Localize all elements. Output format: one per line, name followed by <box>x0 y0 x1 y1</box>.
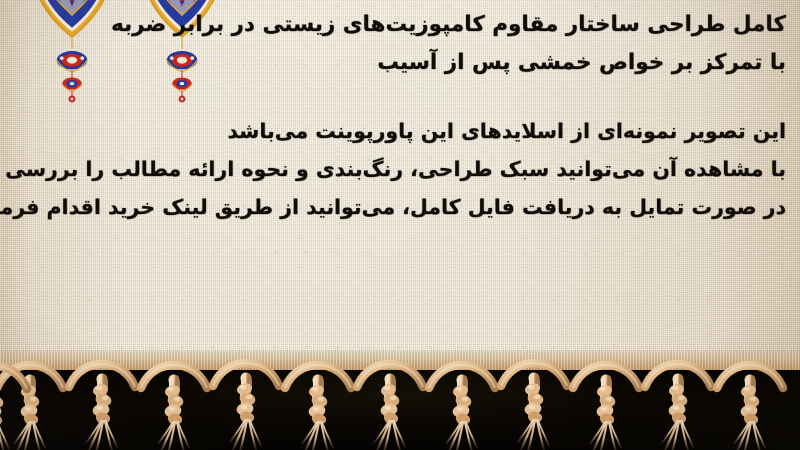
list-item <box>141 365 207 450</box>
body-line-3: در صورت تمایل به دریافت فایل کامل، می‌تو… <box>0 188 786 226</box>
carpet-bottom-edge <box>0 350 800 450</box>
list-item <box>69 364 135 450</box>
tassel-row <box>0 363 783 450</box>
list-item <box>501 363 567 450</box>
list-item <box>285 365 351 450</box>
list-item <box>0 365 63 450</box>
body-line-2: با مشاهده آن می‌توانید سبک طراحی، رنگ‌بن… <box>0 150 786 188</box>
body-line-1: این تصویر نمونه‌ای از اسلایدهای این پاور… <box>0 112 786 150</box>
slide-title: کامل طراحی ساختار مقاوم کامپوزیت‌های زیس… <box>0 6 786 82</box>
list-item <box>573 365 639 450</box>
slide-body: این تصویر نمونه‌ای از اسلایدهای این پاور… <box>0 112 786 226</box>
presentation-slide: کامل طراحی ساختار مقاوم کامپوزیت‌های زیس… <box>0 0 800 450</box>
carpet-tassel-fringe <box>0 358 800 450</box>
slide-text-layer: کامل طراحی ساختار مقاوم کامپوزیت‌های زیس… <box>0 0 800 360</box>
title-line-1: کامل طراحی ساختار مقاوم کامپوزیت‌های زیس… <box>0 6 786 44</box>
list-item <box>717 365 783 450</box>
list-item <box>213 363 279 450</box>
title-line-2: با تمرکز بر خواص خمشی پس از آسیب <box>0 44 786 82</box>
list-item <box>357 364 423 450</box>
list-item <box>645 364 711 450</box>
list-item <box>429 365 495 450</box>
